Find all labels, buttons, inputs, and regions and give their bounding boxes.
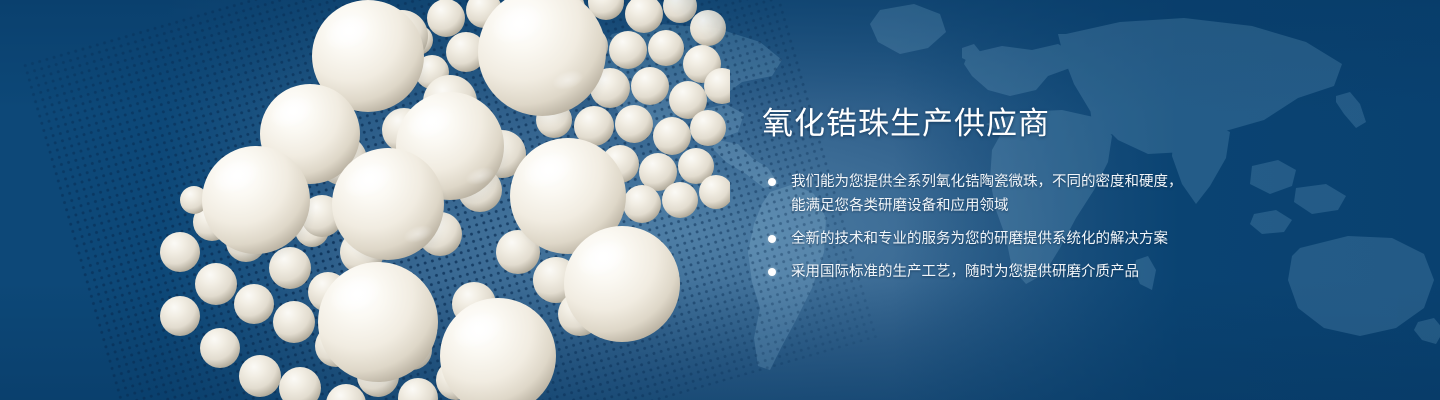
bullet-dot-icon <box>768 268 776 276</box>
hero-banner: 氧化锆珠生产供应商 我们能为您提供全系列氧化锆陶瓷微珠，不同的密度和硬度， 能满… <box>0 0 1440 400</box>
bullet-line: 我们能为您提供全系列氧化锆陶瓷微珠，不同的密度和硬度， <box>791 170 1302 194</box>
bullet-dot-icon <box>768 178 776 186</box>
bullet-line: 能满足您各类研磨设备和应用领域 <box>791 194 1302 218</box>
bullet-line: 采用国际标准的生产工艺，随时为您提供研磨介质产品 <box>791 260 1302 284</box>
bullet-line: 全新的技术和专业的服务为您的研磨提供系统化的解决方案 <box>791 227 1302 251</box>
banner-headline: 氧化锆珠生产供应商 <box>762 104 1302 144</box>
banner-bullet-item: 我们能为您提供全系列氧化锆陶瓷微珠，不同的密度和硬度， 能满足您各类研磨设备和应… <box>762 170 1302 218</box>
banner-bullet-item: 全新的技术和专业的服务为您的研磨提供系统化的解决方案 <box>762 227 1302 251</box>
banner-copy-block: 氧化锆珠生产供应商 我们能为您提供全系列氧化锆陶瓷微珠，不同的密度和硬度， 能满… <box>762 104 1302 284</box>
bullet-dot-icon <box>768 235 776 243</box>
zirconia-beads-product-photo <box>150 0 730 400</box>
banner-bullet-item: 采用国际标准的生产工艺，随时为您提供研磨介质产品 <box>762 260 1302 284</box>
banner-bullet-list: 我们能为您提供全系列氧化锆陶瓷微珠，不同的密度和硬度， 能满足您各类研磨设备和应… <box>762 170 1302 284</box>
